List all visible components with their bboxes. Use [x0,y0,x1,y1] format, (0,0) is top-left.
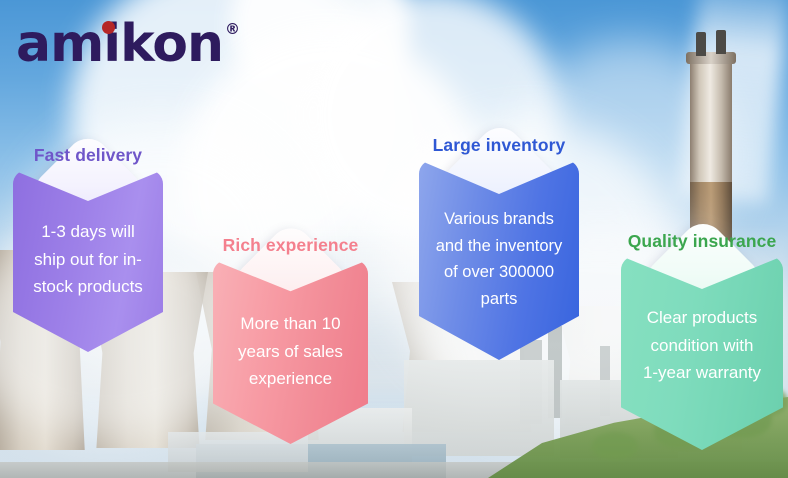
banner-canvas: amikon ® Fast delivery 1-3 days will shi… [0,0,788,478]
amikon-logo[interactable]: amikon ® [16,18,240,70]
card-description: More than 10 years of sales experience [213,310,368,393]
card-title: Fast delivery [34,145,142,166]
card-description: Various brands and the inventory of over… [419,206,579,313]
feature-card-rich-experience[interactable]: Rich experience More than 10 years of sa… [213,232,368,444]
logo-wordmark: amikon [16,18,223,70]
card-description: 1-3 days will ship out for in- stock pro… [13,218,163,301]
feature-card-fast-delivery[interactable]: Fast delivery 1-3 days will ship out for… [13,142,163,352]
feature-card-quality-insurance[interactable]: Quality insurance Clear products conditi… [621,228,783,450]
card-title: Quality insurance [628,231,777,252]
card-title: Rich experience [223,235,359,256]
card-description: Clear products condition with 1-year war… [621,304,783,387]
card-title: Large inventory [433,135,566,156]
logo-dot-icon [102,21,115,34]
registered-trademark-icon: ® [225,22,240,37]
feature-card-large-inventory[interactable]: Large inventory Various brands and the i… [419,132,579,360]
